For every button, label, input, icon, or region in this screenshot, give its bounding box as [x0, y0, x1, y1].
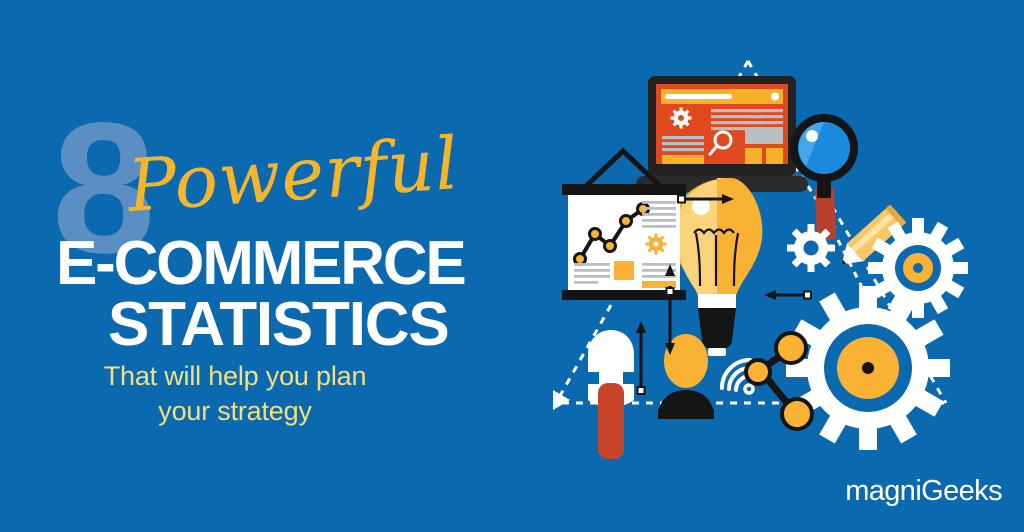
- illustration-cluster: [548, 48, 1008, 468]
- screen-gear-icon: [671, 108, 692, 129]
- share-nodes-icon: [746, 333, 812, 429]
- board-gear-icon: [646, 234, 667, 255]
- wrench-icon: [588, 330, 634, 459]
- laptop-icon: [636, 76, 808, 192]
- brand-logo[interactable]: magniGeeks: [845, 474, 1002, 508]
- lightbulb-icon: [672, 178, 763, 356]
- brand-logo-text: magniGeeks: [845, 477, 1002, 506]
- subtitle-line-2: your strategy: [0, 398, 500, 425]
- page-title-line-1: E-COMMERCE: [56, 233, 465, 295]
- page-title-line-2: STATISTICS: [108, 294, 448, 356]
- gear-large-icon: [786, 286, 950, 450]
- promo-banner: 8 Powerful E-COMMERCE STATISTICS That wi…: [0, 0, 1024, 532]
- headline-block: 8 Powerful E-COMMERCE STATISTICS That wi…: [0, 0, 530, 532]
- subtitle-line-1: That will help you plan: [0, 363, 500, 390]
- gear-small-icon: [787, 224, 835, 272]
- headline-script-word: Powerful: [125, 127, 461, 222]
